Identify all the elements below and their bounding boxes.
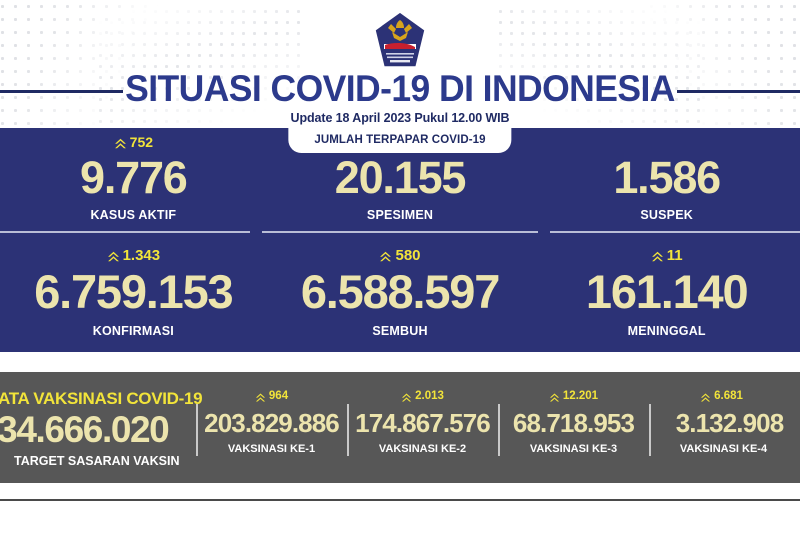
vaccination-dose-1: 964 203.829.886 VAKSINASI KE-1 [196, 372, 347, 483]
delta-suspek-placeholder [533, 135, 800, 149]
delta-konfirmasi: 1.343 [0, 248, 267, 263]
value-meninggal: 161.140 [533, 268, 800, 315]
vaccination-dose-3: 12.201 68.718.953 VAKSINASI KE-3 [498, 372, 649, 483]
vaccination-divider [498, 404, 500, 456]
label-spesimen: SPESIMEN [267, 208, 534, 222]
footer-rule [0, 499, 800, 501]
arrow-up-icon [651, 250, 664, 263]
arrow-up-icon [401, 392, 412, 403]
delta-vaksinasi-ke-1: 964 [196, 391, 347, 403]
vaccination-divider [347, 404, 349, 456]
label-konfirmasi: KONFIRMASI [0, 324, 267, 338]
label-sembuh: SEMBUH [267, 324, 534, 338]
value-suspek: 1.586 [533, 155, 800, 200]
stat-kasus-aktif: 752 9.776 KASUS AKTIF [0, 135, 267, 231]
vaccination-row: DATA VAKSINASI COVID-19 234.666.020 TARG… [0, 372, 800, 483]
value-kasus-aktif: 9.776 [0, 155, 267, 200]
delta-sembuh: 580 [267, 248, 534, 263]
delta-value: 580 [395, 248, 420, 263]
delta-kasus-aktif: 752 [0, 135, 267, 149]
value-target-vaksin: 234.666.020 [0, 411, 198, 448]
delta-meninggal: 11 [533, 248, 800, 263]
row-divider-1 [0, 231, 250, 233]
delta-value: 1.343 [123, 248, 161, 263]
stat-meninggal: 11 161.140 MENINGGAL [533, 248, 800, 348]
label-target-vaksin: TARGET SASARAN VAKSIN [14, 454, 204, 468]
value-spesimen: 20.155 [267, 155, 534, 200]
covid-dashboard-infographic: SITUASI COVID-19 DI INDONESIA Update 18 … [0, 0, 800, 533]
row-divider-2 [262, 231, 538, 233]
arrow-up-icon [549, 392, 560, 403]
label-suspek: SUSPEK [533, 208, 800, 222]
delta-value: 12.201 [563, 391, 598, 403]
value-konfirmasi: 6.759.153 [0, 268, 267, 315]
delta-value: 6.681 [714, 391, 743, 403]
stat-suspek: 1.586 SUSPEK [533, 135, 800, 231]
label-vaksinasi-ke-3: VAKSINASI KE-3 [498, 443, 649, 455]
cases-row-cumulative: 1.343 6.759.153 KONFIRMASI 580 6.588.597… [0, 248, 800, 348]
arrow-up-icon [107, 250, 120, 263]
satgas-covid-emblem-logo [373, 11, 427, 69]
label-meninggal: MENINGGAL [533, 324, 800, 338]
stat-konfirmasi: 1.343 6.759.153 KONFIRMASI [0, 248, 267, 348]
page-title: SITUASI COVID-19 DI INDONESIA [16, 68, 784, 110]
delta-value: 2.013 [415, 391, 444, 403]
arrow-up-icon [255, 392, 266, 403]
row-divider-3 [550, 231, 800, 233]
value-vaksinasi-ke-4: 3.132.908 [659, 410, 800, 436]
vaccination-section-title: DATA VAKSINASI COVID-19 [0, 389, 196, 409]
label-vaksinasi-ke-1: VAKSINASI KE-1 [196, 443, 347, 455]
delta-vaksinasi-ke-3: 12.201 [498, 391, 649, 403]
vaccination-target-block: DATA VAKSINASI COVID-19 234.666.020 TARG… [0, 372, 196, 483]
label-vaksinasi-ke-4: VAKSINASI KE-4 [647, 443, 800, 455]
value-sembuh: 6.588.597 [267, 268, 534, 315]
cases-badge: JUMLAH TERPAPAR COVID-19 [288, 128, 511, 153]
delta-value: 11 [667, 248, 683, 263]
delta-vaksinasi-ke-4: 6.681 [643, 391, 800, 403]
arrow-up-icon [379, 250, 392, 263]
vaccination-dose-2: 2.013 174.867.576 VAKSINASI KE-2 [347, 372, 498, 483]
update-timestamp: Update 18 April 2023 Pukul 12.00 WIB [0, 111, 800, 125]
arrow-up-icon [114, 137, 127, 150]
value-vaksinasi-ke-3: 68.718.953 [498, 410, 649, 436]
vaccination-dose-4: 6.681 3.132.908 VAKSINASI KE-4 [649, 372, 800, 483]
label-kasus-aktif: KASUS AKTIF [0, 208, 267, 222]
value-vaksinasi-ke-2: 174.867.576 [347, 410, 498, 436]
delta-value: 964 [269, 391, 288, 403]
header-banner: SITUASI COVID-19 DI INDONESIA Update 18 … [0, 0, 800, 128]
stat-sembuh: 580 6.588.597 SEMBUH [267, 248, 534, 348]
delta-vaksinasi-ke-2: 2.013 [347, 391, 498, 403]
delta-value: 752 [130, 135, 153, 149]
value-vaksinasi-ke-1: 203.829.886 [196, 410, 347, 436]
vaccination-divider [649, 404, 651, 456]
label-vaksinasi-ke-2: VAKSINASI KE-2 [347, 443, 498, 455]
vaccination-divider [196, 404, 198, 456]
arrow-up-icon [700, 392, 711, 403]
